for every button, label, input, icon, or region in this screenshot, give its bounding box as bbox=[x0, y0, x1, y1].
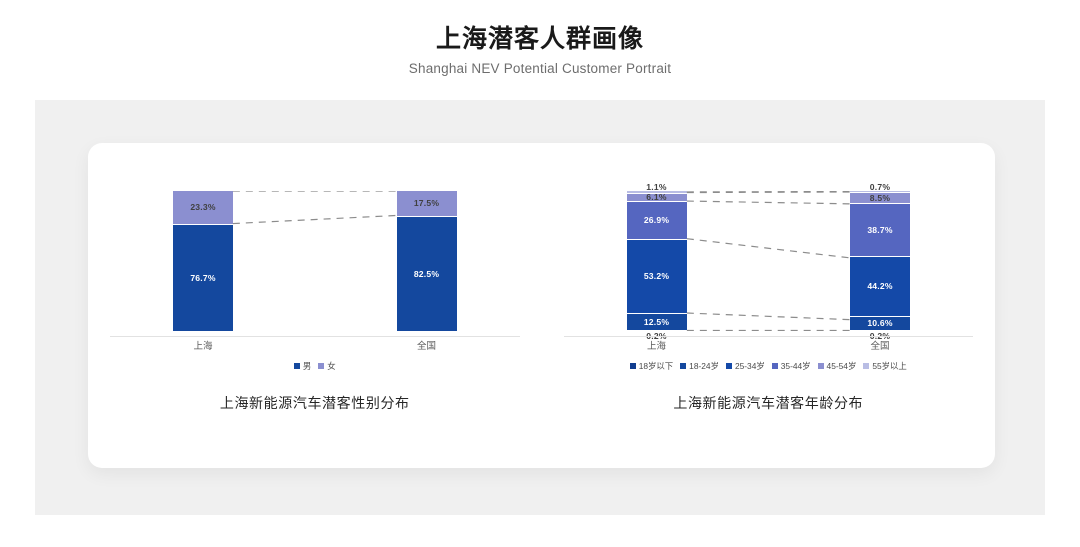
page-title: 上海潜客人群画像 bbox=[0, 22, 1080, 56]
legend-item-55-plus[interactable]: 55岁以上 bbox=[863, 361, 906, 371]
legend-label: 18岁以下 bbox=[639, 361, 673, 371]
age-seg-25-34-shanghai[interactable]: 53.2% bbox=[627, 239, 687, 313]
gender-bars-area: 23.3% 76.7% 17.5% 82.5% bbox=[143, 191, 487, 331]
gender-chart-caption: 上海新能源汽车潜客性别分布 bbox=[88, 393, 542, 413]
legend-label: 55岁以上 bbox=[872, 361, 906, 371]
legend-swatch-icon bbox=[630, 363, 636, 369]
age-bars-area: 1.1% 6.1% 26.9% 53.2% bbox=[597, 191, 941, 331]
age-legend: 18岁以下 18-24岁 25-34岁 35-44岁 bbox=[542, 361, 996, 371]
gender-seg-male-shanghai[interactable]: 76.7% bbox=[173, 224, 233, 331]
age-seg-label: 53.2% bbox=[644, 271, 669, 281]
age-seg-45-54-national[interactable]: 8.5% bbox=[850, 192, 910, 204]
age-seg-25-34-national[interactable]: 44.2% bbox=[850, 256, 910, 316]
age-seg-label: 12.5% bbox=[644, 317, 669, 327]
legend-item-45-54[interactable]: 45-54岁 bbox=[818, 361, 857, 371]
legend-swatch-icon bbox=[318, 363, 324, 369]
age-seg-label: 38.7% bbox=[867, 225, 892, 235]
gender-category-national: 全国 bbox=[397, 340, 457, 354]
age-seg-45-54-shanghai[interactable]: 6.1% bbox=[627, 193, 687, 202]
gender-bar-national[interactable]: 17.5% 82.5% bbox=[397, 191, 457, 331]
legend-label: 18-24岁 bbox=[689, 361, 719, 371]
age-seg-18-24-national[interactable]: 10.6% bbox=[850, 316, 910, 330]
page-subtitle: Shanghai NEV Potential Customer Portrait bbox=[0, 58, 1080, 80]
age-plot: 1.1% 6.1% 26.9% 53.2% bbox=[542, 191, 996, 336]
page-header: 上海潜客人群画像 Shanghai NEV Potential Customer… bbox=[0, 0, 1080, 80]
legend-swatch-icon bbox=[294, 363, 300, 369]
gender-category-shanghai: 上海 bbox=[173, 340, 233, 354]
age-seg-label: 10.6% bbox=[867, 318, 892, 328]
charts-row: 23.3% 76.7% 17.5% 82.5% bbox=[88, 143, 995, 468]
gender-bar-shanghai[interactable]: 23.3% 76.7% bbox=[173, 191, 233, 331]
age-axis-line bbox=[564, 336, 974, 337]
legend-item-25-34[interactable]: 25-34岁 bbox=[726, 361, 765, 371]
age-bar-shanghai[interactable]: 1.1% 6.1% 26.9% 53.2% bbox=[627, 191, 687, 331]
gender-seg-label: 82.5% bbox=[414, 269, 439, 279]
age-category-shanghai: 上海 bbox=[627, 340, 687, 354]
legend-swatch-icon bbox=[680, 363, 686, 369]
legend-label: 45-54岁 bbox=[827, 361, 857, 371]
age-seg-label: 8.5% bbox=[870, 193, 890, 203]
legend-item-35-44[interactable]: 35-44岁 bbox=[772, 361, 811, 371]
legend-label: 男 bbox=[303, 361, 311, 371]
age-seg-label: 1.1% bbox=[646, 182, 666, 192]
age-seg-35-44-shanghai[interactable]: 26.9% bbox=[627, 201, 687, 238]
gender-category-labels: 上海 全国 bbox=[143, 340, 487, 356]
age-category-national: 全国 bbox=[850, 340, 910, 354]
age-seg-label: 0.7% bbox=[870, 182, 890, 192]
age-seg-label: 44.2% bbox=[867, 281, 892, 291]
gender-seg-female-shanghai[interactable]: 23.3% bbox=[173, 191, 233, 224]
legend-label: 女 bbox=[327, 361, 335, 371]
legend-item-female[interactable]: 女 bbox=[318, 361, 335, 371]
age-seg-label: 26.9% bbox=[644, 215, 669, 225]
legend-swatch-icon bbox=[863, 363, 869, 369]
gender-seg-male-national[interactable]: 82.5% bbox=[397, 216, 457, 332]
age-seg-18under-national[interactable]: 0.2% bbox=[850, 330, 910, 331]
gender-seg-label: 23.3% bbox=[190, 202, 215, 212]
legend-label: 35-44岁 bbox=[781, 361, 811, 371]
age-seg-18-24-shanghai[interactable]: 12.5% bbox=[627, 313, 687, 330]
age-seg-18under-shanghai[interactable]: 0.2% bbox=[627, 330, 687, 331]
legend-item-18-24[interactable]: 18-24岁 bbox=[680, 361, 719, 371]
chart-gender: 23.3% 76.7% 17.5% 82.5% bbox=[88, 143, 542, 468]
age-bar-national[interactable]: 0.7% 8.5% 38.7% 44.2% bbox=[850, 191, 910, 331]
chart-age: 1.1% 6.1% 26.9% 53.2% bbox=[542, 143, 996, 468]
gender-legend: 男 女 bbox=[88, 361, 542, 371]
content-panel: 23.3% 76.7% 17.5% 82.5% bbox=[35, 100, 1045, 515]
gender-seg-label: 17.5% bbox=[414, 198, 439, 208]
age-seg-35-44-national[interactable]: 38.7% bbox=[850, 203, 910, 255]
gender-seg-label: 76.7% bbox=[190, 273, 215, 283]
gender-axis-line bbox=[110, 336, 520, 337]
legend-item-male[interactable]: 男 bbox=[294, 361, 311, 371]
legend-swatch-icon bbox=[772, 363, 778, 369]
gender-plot: 23.3% 76.7% 17.5% 82.5% bbox=[88, 191, 542, 336]
legend-label: 25-34岁 bbox=[735, 361, 765, 371]
legend-swatch-icon bbox=[726, 363, 732, 369]
legend-swatch-icon bbox=[818, 363, 824, 369]
legend-item-18-under[interactable]: 18岁以下 bbox=[630, 361, 673, 371]
charts-card: 23.3% 76.7% 17.5% 82.5% bbox=[88, 143, 995, 468]
gender-seg-female-national[interactable]: 17.5% bbox=[397, 191, 457, 216]
age-chart-caption: 上海新能源汽车潜客年龄分布 bbox=[542, 393, 996, 413]
age-category-labels: 上海 全国 bbox=[597, 340, 941, 356]
